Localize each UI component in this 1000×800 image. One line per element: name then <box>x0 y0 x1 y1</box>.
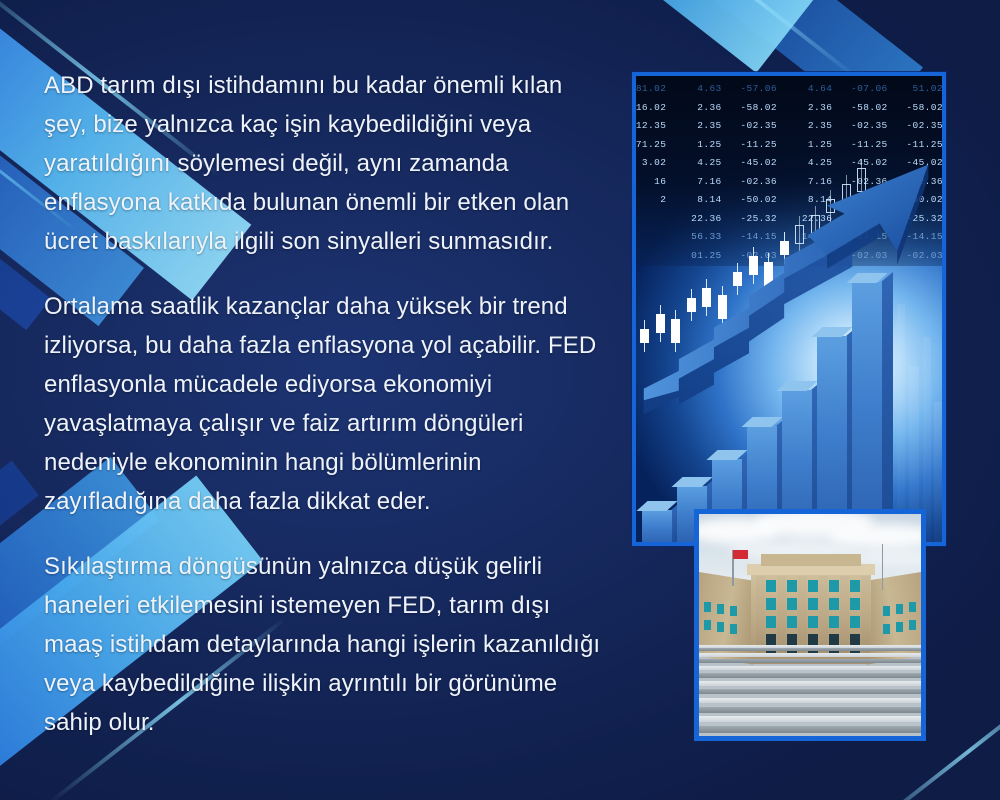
rising-arrow-icon <box>636 76 942 542</box>
ribbon-top-right-front <box>347 0 821 73</box>
stair-step <box>699 673 921 678</box>
paragraph-3: Sıkılaştırma döngüsünün yalnızca düşük g… <box>44 547 604 742</box>
rising-market-chart-image: 81.0216.0212.3571.253.021624.632.362.351… <box>632 72 946 546</box>
building-attic <box>761 554 861 566</box>
ribbon-bottom-right-back <box>996 632 1000 800</box>
stair-step <box>699 698 921 704</box>
ribbon-top-right-hairline <box>619 0 858 80</box>
poster-canvas: ABD tarım dışı istihdamını bu kadar önem… <box>0 0 1000 800</box>
government-building-photo <box>694 509 926 741</box>
stair-step <box>699 659 921 663</box>
stair-step <box>699 681 921 686</box>
turkish-flag-icon <box>733 550 748 559</box>
article-text-column: ABD tarım dışı istihdamını bu kadar önem… <box>44 66 624 742</box>
stair-step <box>699 716 921 722</box>
chart-scene: 81.0216.0212.3571.253.021624.632.362.351… <box>636 76 942 542</box>
stair-step <box>699 648 921 651</box>
stair-step <box>699 707 921 713</box>
building-staircase <box>699 645 921 736</box>
building-scene <box>699 514 921 736</box>
stair-step <box>699 666 921 670</box>
paragraph-2: Ortalama saatlik kazançlar daha yüksek b… <box>44 287 604 521</box>
ribbon-bottom-left-back <box>0 461 39 760</box>
paragraph-1: ABD tarım dışı istihdamını bu kadar önem… <box>44 66 604 261</box>
stair-step <box>699 653 921 657</box>
stair-step <box>699 689 921 694</box>
stair-step <box>699 726 921 733</box>
